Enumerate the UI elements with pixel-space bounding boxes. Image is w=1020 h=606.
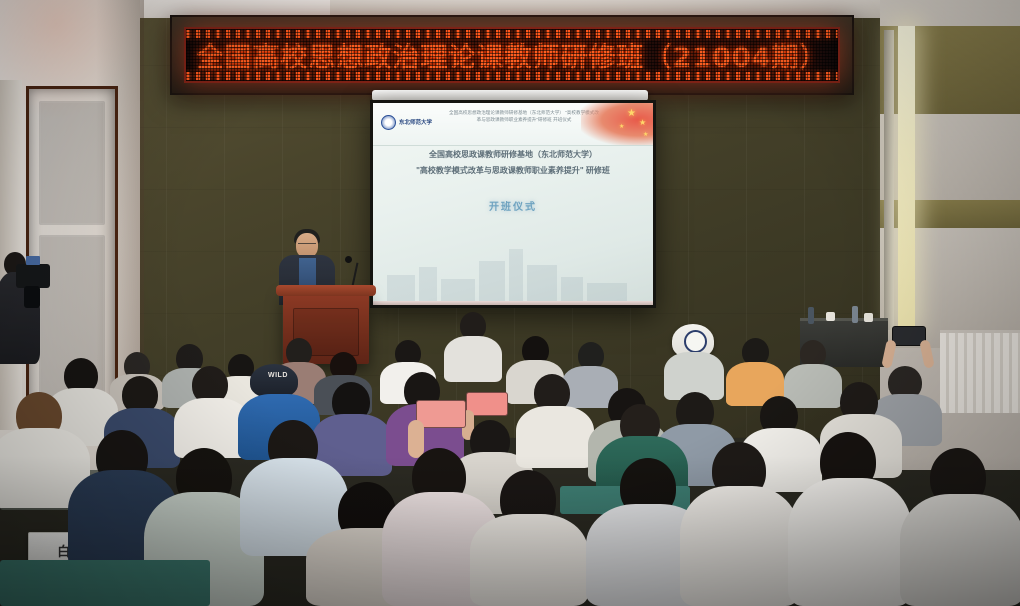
slide-watermark-buildings: [373, 239, 653, 301]
university-logo: 东北师范大学: [381, 114, 433, 130]
water-bottle-1: [808, 307, 814, 324]
podium-top: [276, 285, 376, 296]
slide-header-subtext: 全国高校思想政治理论课教师研修基地（东北师范大学） "高校教学模式改革与思政课教…: [449, 110, 599, 124]
camera-viewfinder: [26, 256, 40, 265]
cup-1: [826, 312, 835, 321]
slide-line-2: "高校教学模式改革与思政课教师职业素养提升" 研修班: [373, 165, 653, 176]
audience-body-n7: [470, 514, 588, 606]
bucket-hat-emblem-icon: [684, 330, 707, 353]
video-camera-body: [16, 264, 50, 288]
water-bottle-2: [852, 306, 858, 323]
right-wall-post: [884, 30, 894, 330]
speaker-glasses: [298, 243, 316, 248]
audience-body-n10: [788, 478, 912, 606]
projection-screen-frame: 东北师范大学 全国高校思想政治理论课教师研修基地（东北师范大学） "高校教学模式…: [370, 100, 656, 308]
audience-body-m7: [516, 406, 594, 468]
radiator: [940, 330, 1020, 413]
audience-body-n9: [680, 486, 800, 606]
slide-bottom-bar: [373, 301, 653, 305]
slide-header: 东北师范大学 全国高校思想政治理论课教师研修基地（东北师范大学） "高校教学模式…: [373, 103, 653, 146]
star-icon-1: ★: [627, 108, 636, 119]
phone-holder-arm-2: [408, 420, 424, 458]
led-banner: 全国高校思想政治理论课教师研修班（21004期）: [170, 15, 854, 95]
logo-badge-icon: [381, 115, 396, 130]
vertical-light-strip: [898, 26, 915, 326]
audience-body-f7: [444, 336, 502, 382]
led-banner-screen: 全国高校思想政治理论课教师研修班（21004期）: [184, 27, 840, 83]
lecture-hall-photo: 全国高校思想政治理论课教师研修班（21004期） 东北师范大学 全国高校思想政治…: [0, 0, 1020, 606]
logo-wordmark: 东北师范大学: [399, 118, 432, 126]
door-panel-upper: [39, 101, 105, 225]
star-icon-2: ★: [639, 118, 646, 127]
cap-logo-text: WILD: [268, 372, 294, 380]
slide-line-3: 开班仪式: [373, 198, 653, 213]
flag-graphic: ★ ★ ★ ★: [581, 103, 653, 145]
microphone-head: [345, 256, 352, 263]
slide-line-1: 全国高校思政课教师研修基地（东北师范大学）: [373, 149, 653, 160]
audience-body-n11: [900, 494, 1020, 606]
star-icon-3: ★: [619, 123, 624, 130]
desk-front-bottom-left: [0, 560, 210, 606]
slide-body: 全国高校思政课教师研修基地（东北师范大学） "高校教学模式改革与思政课教师职业素…: [373, 149, 653, 213]
video-camera-lens: [24, 286, 40, 308]
phone-camera-lower-left[interactable]: [416, 400, 466, 428]
baseball-cap: [250, 364, 298, 398]
cup-2: [864, 313, 873, 322]
projection-screen: 东北师范大学 全国高校思想政治理论课教师研修基地（东北师范大学） "高校教学模式…: [373, 103, 653, 305]
led-banner-text: 全国高校思想政治理论课教师研修班（21004期）: [186, 36, 838, 75]
star-icon-4: ★: [643, 131, 648, 138]
